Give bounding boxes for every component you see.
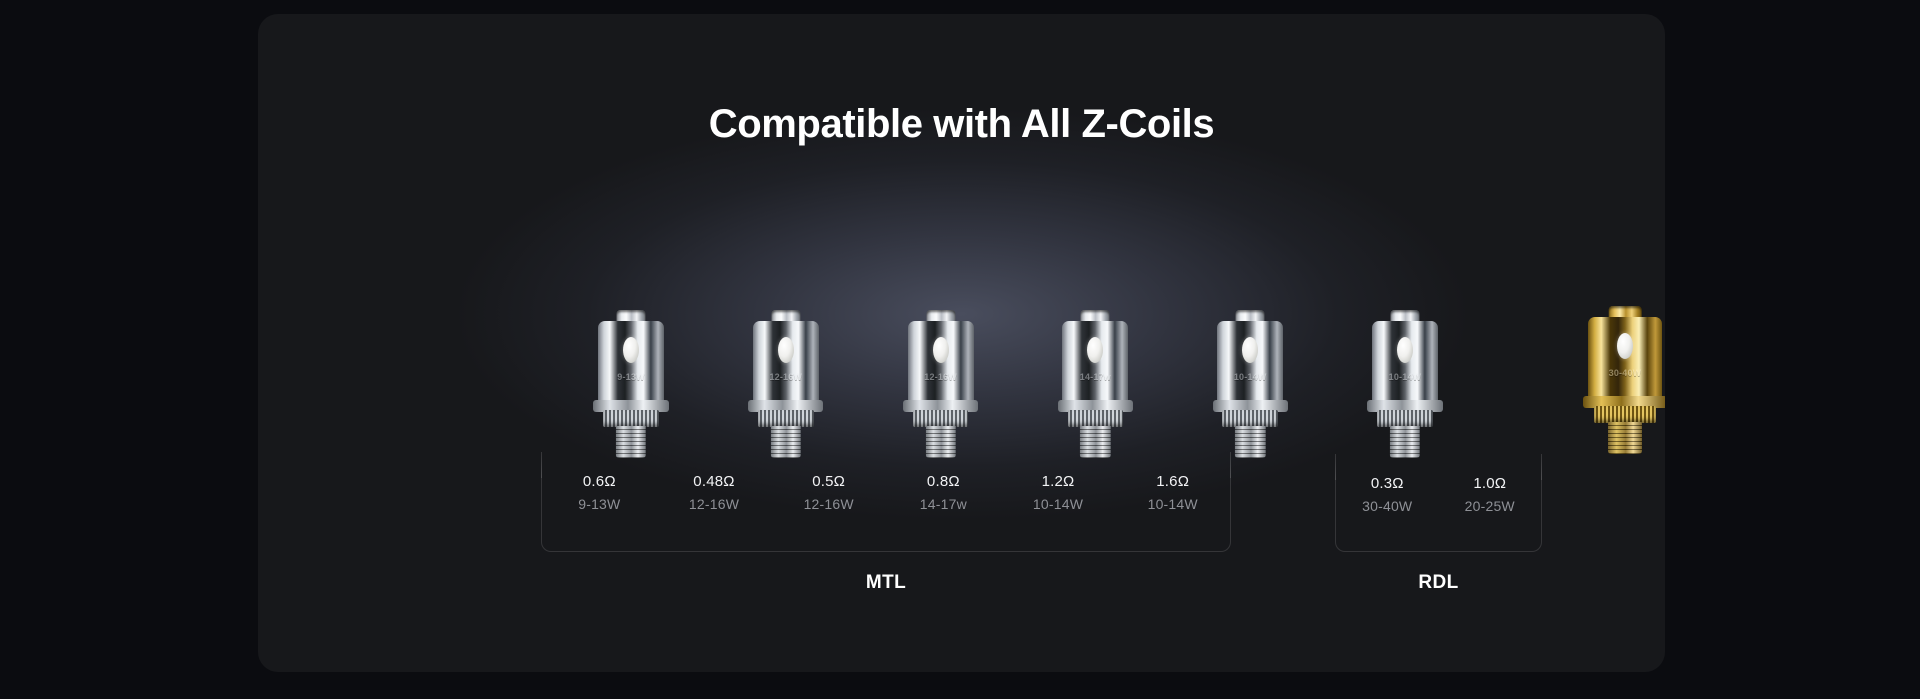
coil-mtl-1: 12-16W: [753, 310, 819, 458]
mtl-coil-row: 9-13W12-16W12-16W14-17w10-14W10-14W: [598, 310, 1438, 458]
spec-cell: 0.48Ω12-16W: [657, 452, 772, 516]
coil-engraving: 9-13W: [598, 372, 664, 382]
coil-mtl-2: 12-16W: [908, 310, 974, 458]
coil-wattage: 12-16W: [771, 493, 886, 515]
rdl-spec-box: 0.3Ω30-40W1.0Ω20-25W: [1335, 454, 1542, 552]
coil-wattage: 10-14W: [1115, 493, 1230, 515]
page-title: Compatible with All Z-Coils: [258, 102, 1665, 147]
coil-wattage: 9-13W: [542, 493, 657, 515]
spec-cell: 1.2Ω10-14W: [1001, 452, 1116, 516]
spec-cell: 1.0Ω20-25W: [1439, 454, 1542, 518]
coil-wattage: 20-25W: [1439, 495, 1542, 517]
coil-knurled-ring: [1594, 406, 1656, 423]
coil-airflow-port: [1617, 333, 1633, 359]
coil-knurled-ring: [1377, 410, 1432, 427]
coil-knurled-ring: [1068, 410, 1123, 427]
coil-mtl-0: 9-13W: [598, 310, 664, 458]
coil-engraving: 10-14W: [1372, 372, 1438, 382]
category-label-mtl: MTL: [541, 572, 1231, 594]
coil-rdl-0: 30-40W: [1588, 306, 1662, 458]
spec-cell: 0.3Ω30-40W: [1336, 454, 1439, 518]
coil-knurled-ring: [603, 410, 658, 427]
coil-wattage: 30-40W: [1336, 495, 1439, 517]
coil-airflow-port: [623, 337, 639, 363]
coil-airflow-port: [778, 337, 794, 363]
coil-resistance: 0.8Ω: [886, 470, 1001, 493]
spec-cell: 0.5Ω12-16W: [771, 452, 886, 516]
coil-knurled-ring: [913, 410, 968, 427]
coil-wattage: 14-17w: [886, 493, 1001, 515]
coil-engraving: 12-16W: [753, 372, 819, 382]
coil-engraving: 30-40W: [1588, 368, 1662, 378]
coil-engraving: 10-14W: [1217, 372, 1283, 382]
coil-engraving: 12-16W: [908, 372, 974, 382]
coil-airflow-port: [933, 337, 949, 363]
coil-resistance: 0.3Ω: [1336, 472, 1439, 495]
category-label-rdl: RDL: [1335, 572, 1542, 594]
coil-knurled-ring: [758, 410, 813, 427]
spec-cell: 0.6Ω9-13W: [542, 452, 657, 516]
coil-resistance: 0.6Ω: [542, 470, 657, 493]
coil-knurled-ring: [1222, 410, 1277, 427]
spec-cell: 1.6Ω10-14W: [1115, 452, 1230, 516]
coil-resistance: 1.2Ω: [1001, 470, 1116, 493]
coil-airflow-port: [1397, 337, 1413, 363]
coil-threaded-base: [1235, 426, 1265, 458]
coil-wattage: 12-16W: [657, 493, 772, 515]
promo-panel: Compatible with All Z-Coils 9-13W12-16W1…: [258, 14, 1665, 672]
coil-engraving: 14-17w: [1062, 372, 1128, 382]
coil-resistance: 1.0Ω: [1439, 472, 1542, 495]
rdl-coil-row: 30-40W20-25W: [1588, 306, 1665, 458]
coil-wattage: 10-14W: [1001, 493, 1116, 515]
mtl-spec-box: 0.6Ω9-13W0.48Ω12-16W0.5Ω12-16W0.8Ω14-17w…: [541, 452, 1231, 552]
coil-resistance: 1.6Ω: [1115, 470, 1230, 493]
coil-resistance: 0.48Ω: [657, 470, 772, 493]
coil-airflow-port: [1242, 337, 1258, 363]
coil-mtl-4: 10-14W: [1217, 310, 1283, 458]
coil-mtl-5: 10-14W: [1372, 310, 1438, 458]
coil-resistance: 0.5Ω: [771, 470, 886, 493]
coil-mtl-3: 14-17w: [1062, 310, 1128, 458]
coil-threaded-base: [1608, 422, 1642, 454]
spec-cell: 0.8Ω14-17w: [886, 452, 1001, 516]
coil-airflow-port: [1087, 337, 1103, 363]
